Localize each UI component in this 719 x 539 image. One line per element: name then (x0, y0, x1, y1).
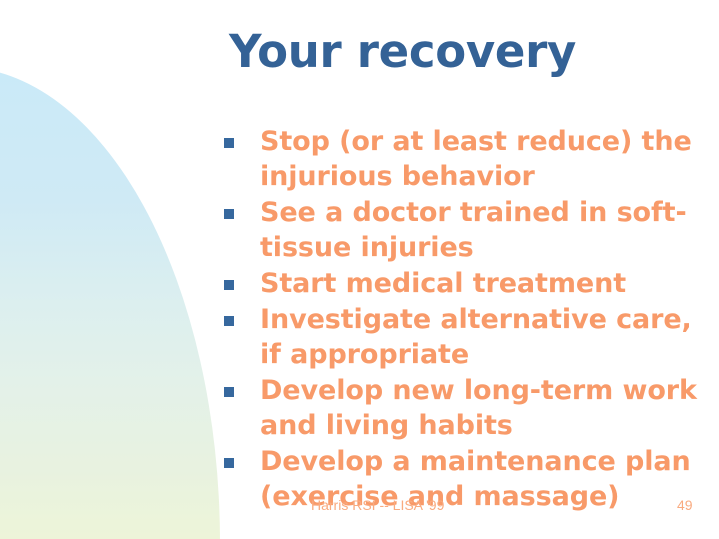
square-bullet-icon (224, 458, 234, 468)
list-item: See a doctor trained in soft-tissue inju… (222, 195, 697, 265)
list-item-label: Stop (or at least reduce) the injurious … (260, 126, 692, 192)
square-bullet-icon (224, 316, 234, 326)
square-bullet-icon (224, 280, 234, 290)
list-item: Investigate alternative care, if appropr… (222, 302, 697, 372)
slide-title: Your recovery (229, 26, 699, 78)
square-bullet-icon (224, 209, 234, 219)
list-item: Develop new long-term work and living ha… (222, 373, 697, 443)
list-item-label: Start medical treatment (260, 268, 626, 299)
footer-note: Harris RSI -- LISA '99 (311, 497, 444, 513)
square-bullet-icon (224, 138, 234, 148)
presentation-slide: Your recovery Stop (or at least reduce) … (0, 0, 719, 539)
list-item-label: See a doctor trained in soft-tissue inju… (260, 197, 687, 263)
list-item-label: Investigate alternative care, if appropr… (260, 304, 692, 370)
list-item: Start medical treatment (222, 266, 697, 301)
page-number: 49 (677, 497, 693, 513)
decorative-gradient-ellipse (0, 67, 220, 539)
list-item: Develop a maintenance plan (exercise and… (222, 444, 697, 514)
bullet-list: Stop (or at least reduce) the injurious … (222, 124, 697, 515)
list-item: Stop (or at least reduce) the injurious … (222, 124, 697, 194)
square-bullet-icon (224, 387, 234, 397)
list-item-label: Develop new long-term work and living ha… (260, 375, 697, 441)
